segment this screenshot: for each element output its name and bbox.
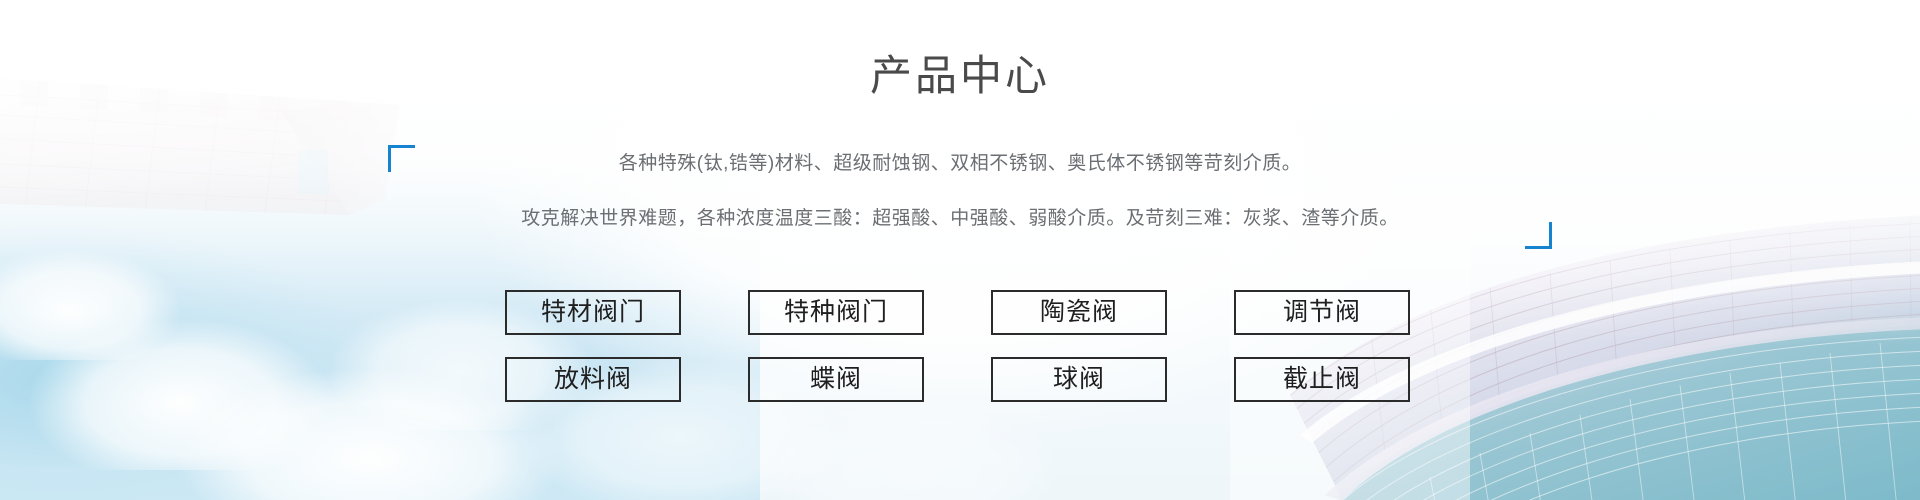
product-category-row-1: 特材阀门 特种阀门 陶瓷阀 调节阀 [505,290,1410,335]
subtitle-line-1: 各种特殊(钛,锆等)材料、超级耐蚀钢、双相不锈钢、奥氏体不锈钢等苛刻介质。 [0,150,1920,178]
category-button-butterfly-valve[interactable]: 蝶阀 [748,357,924,402]
corner-bracket-bottom-right-icon [1525,222,1552,249]
product-category-row-2: 放料阀 蝶阀 球阀 截止阀 [505,357,1410,402]
category-button-ceramic-valve[interactable]: 陶瓷阀 [991,290,1167,335]
subtitle-line-2: 攻克解决世界难题，各种浓度温度三酸：超强酸、中强酸、弱酸介质。及苛刻三难：灰浆、… [0,205,1920,233]
banner-content: 产品中心 各种特殊(钛,锆等)材料、超级耐蚀钢、双相不锈钢、奥氏体不锈钢等苛刻介… [0,0,1920,500]
category-button-globe-valve[interactable]: 截止阀 [1234,357,1410,402]
product-category-grid: 特材阀门 特种阀门 陶瓷阀 调节阀 放料阀 蝶阀 球阀 截止阀 [505,290,1410,424]
category-button-special-valve[interactable]: 特种阀门 [748,290,924,335]
category-button-discharge-valve[interactable]: 放料阀 [505,357,681,402]
category-button-techai-valve[interactable]: 特材阀门 [505,290,681,335]
page-title: 产品中心 [0,50,1920,102]
product-center-banner: 产品中心 各种特殊(钛,锆等)材料、超级耐蚀钢、双相不锈钢、奥氏体不锈钢等苛刻介… [0,0,1920,500]
category-button-ball-valve[interactable]: 球阀 [991,357,1167,402]
corner-bracket-top-left-icon [388,145,415,172]
category-button-control-valve[interactable]: 调节阀 [1234,290,1410,335]
